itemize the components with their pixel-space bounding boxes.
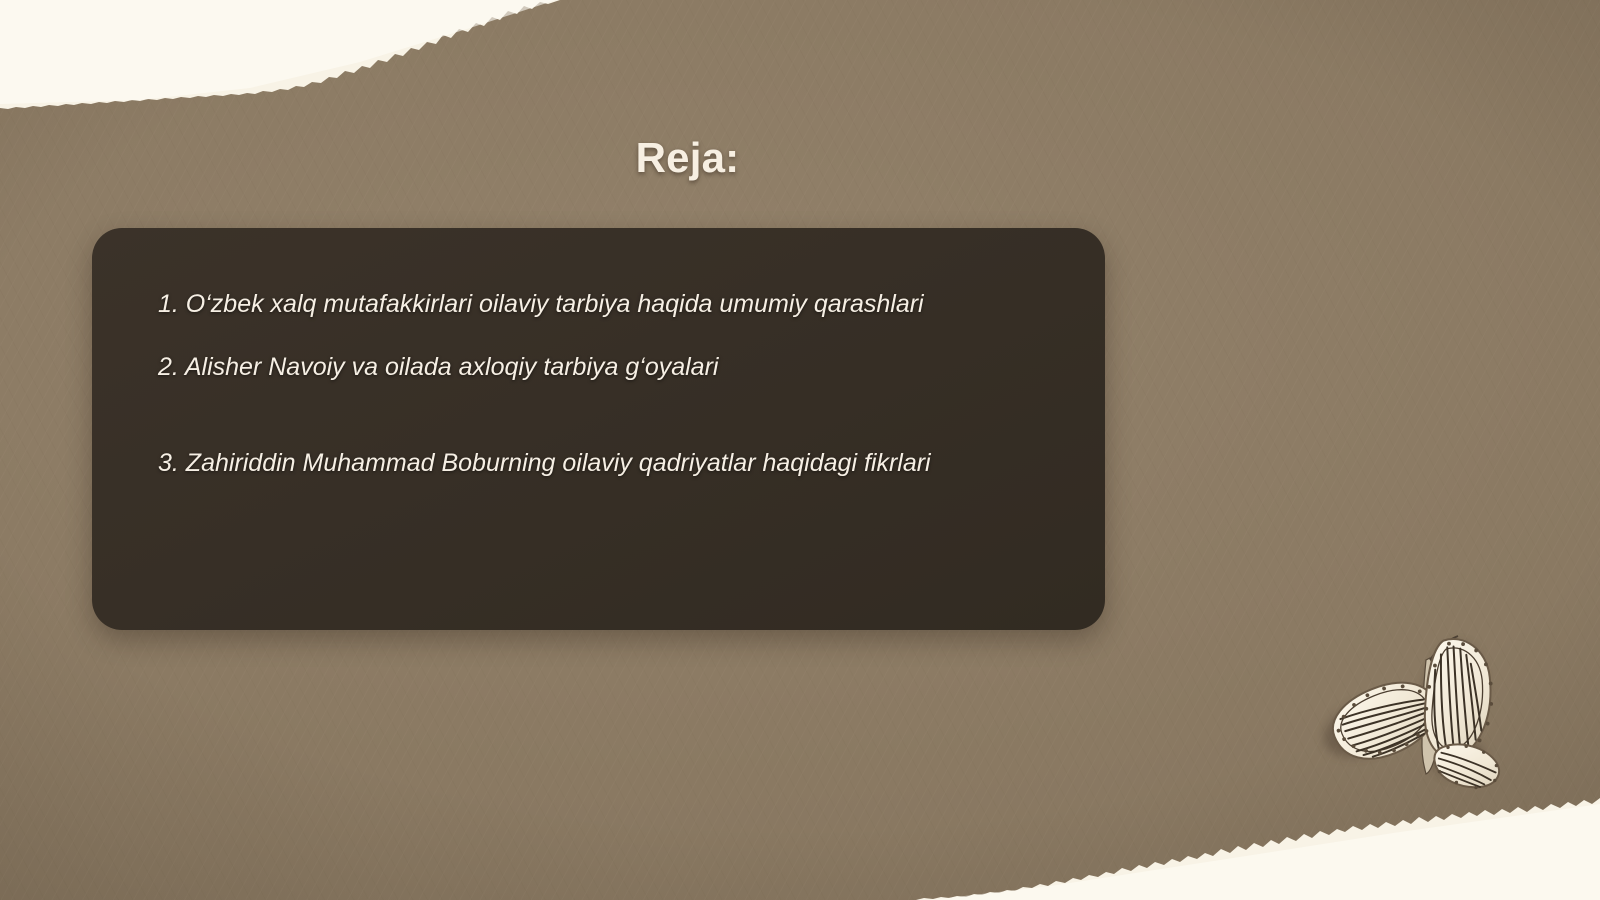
plan-card: 1. O‘zbek xalq mutafakkirlari oilaviy ta… (92, 228, 1105, 630)
list-item: 1. O‘zbek xalq mutafakkirlari oilaviy ta… (158, 284, 1038, 325)
list-item: 3. Zahiriddin Muhammad Boburning oilaviy… (158, 443, 1105, 484)
plan-list: 1. O‘zbek xalq mutafakkirlari oilaviy ta… (158, 284, 1105, 630)
page-title: Reja: (0, 134, 1375, 182)
list-item: 2. Alisher Navoiy va oilada axloqiy tarb… (158, 347, 1098, 388)
slide-canvas: Reja: 1. O‘zbek xalq mutafakkirlari oila… (0, 0, 1600, 900)
